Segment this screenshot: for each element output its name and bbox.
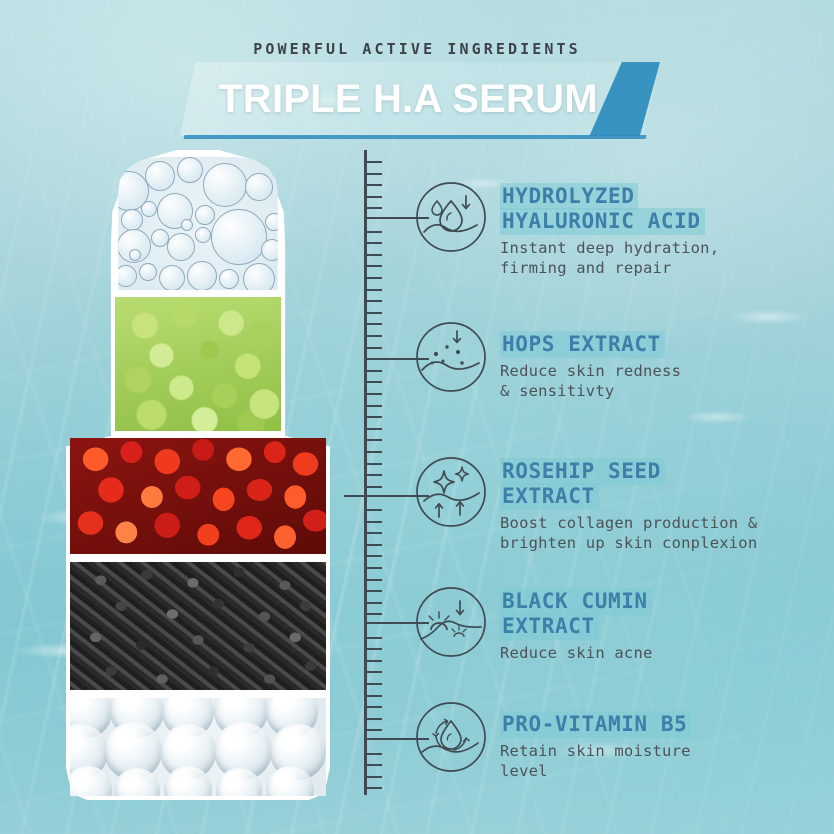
ingredient-title-line: HYDROLYZED xyxy=(500,183,638,210)
ingredient-text-hops-extract: HOPS EXTRACT Reduce skin redness & sensi… xyxy=(500,332,834,401)
ingredient-title-line: EXTRACT xyxy=(500,613,599,640)
ingredient-title-black-cumin-extract: BLACK CUMIN EXTRACT xyxy=(500,589,834,639)
ingredient-title-line: PRO-VITAMIN B5 xyxy=(500,711,691,738)
ingredient-description-black-cumin-extract: Reduce skin acne xyxy=(500,643,834,663)
sparkle-brightening-icon xyxy=(414,455,488,529)
water-drop-hydration-icon xyxy=(414,180,488,254)
ingredient-title-rosehip-seed-extract: ROSEHIP SEED EXTRACT xyxy=(500,459,834,509)
ingredient-text-black-cumin-extract: BLACK CUMIN EXTRACT Reduce skin acne xyxy=(500,589,834,663)
ingredient-title-pro-vitamin-b5: PRO-VITAMIN B5 xyxy=(500,712,834,737)
ingredient-title-hyaluronic-acid: HYDROLYZED HYALURONIC ACID xyxy=(500,184,834,234)
ingredient-description-hyaluronic-acid: Instant deep hydration, firming and repa… xyxy=(500,238,834,278)
ingredient-description-rosehip-seed-extract: Boost collagen production & brighten up … xyxy=(500,513,834,553)
ingredient-title-line: EXTRACT xyxy=(500,483,599,510)
ingredient-title-line: ROSEHIP SEED xyxy=(500,458,665,485)
skin-redness-dots-icon xyxy=(414,320,488,394)
ingredient-title-line: HYALURONIC ACID xyxy=(500,208,705,235)
infographic-stage: POWERFUL ACTIVE INGREDIENTS TRIPLE H.A S… xyxy=(0,0,834,834)
ingredient-text-pro-vitamin-b5: PRO-VITAMIN B5 Retain skin moisture leve… xyxy=(500,712,834,781)
ingredient-list: HYDROLYZED HYALURONIC ACID Instant deep … xyxy=(0,0,834,834)
ingredient-title-line: HOPS EXTRACT xyxy=(500,331,665,358)
ingredient-text-rosehip-seed-extract: ROSEHIP SEED EXTRACT Boost collagen prod… xyxy=(500,459,834,553)
ingredient-description-pro-vitamin-b5: Retain skin moisture level xyxy=(500,741,834,781)
ingredient-title-hops-extract: HOPS EXTRACT xyxy=(500,332,834,357)
ingredient-description-hops-extract: Reduce skin redness & sensitivty xyxy=(500,361,834,401)
ingredient-title-line: BLACK CUMIN xyxy=(500,588,652,615)
acne-bump-reduction-icon xyxy=(414,585,488,659)
ingredient-text-hyaluronic-acid: HYDROLYZED HYALURONIC ACID Instant deep … xyxy=(500,184,834,278)
moisture-retention-cycle-icon xyxy=(414,700,488,774)
